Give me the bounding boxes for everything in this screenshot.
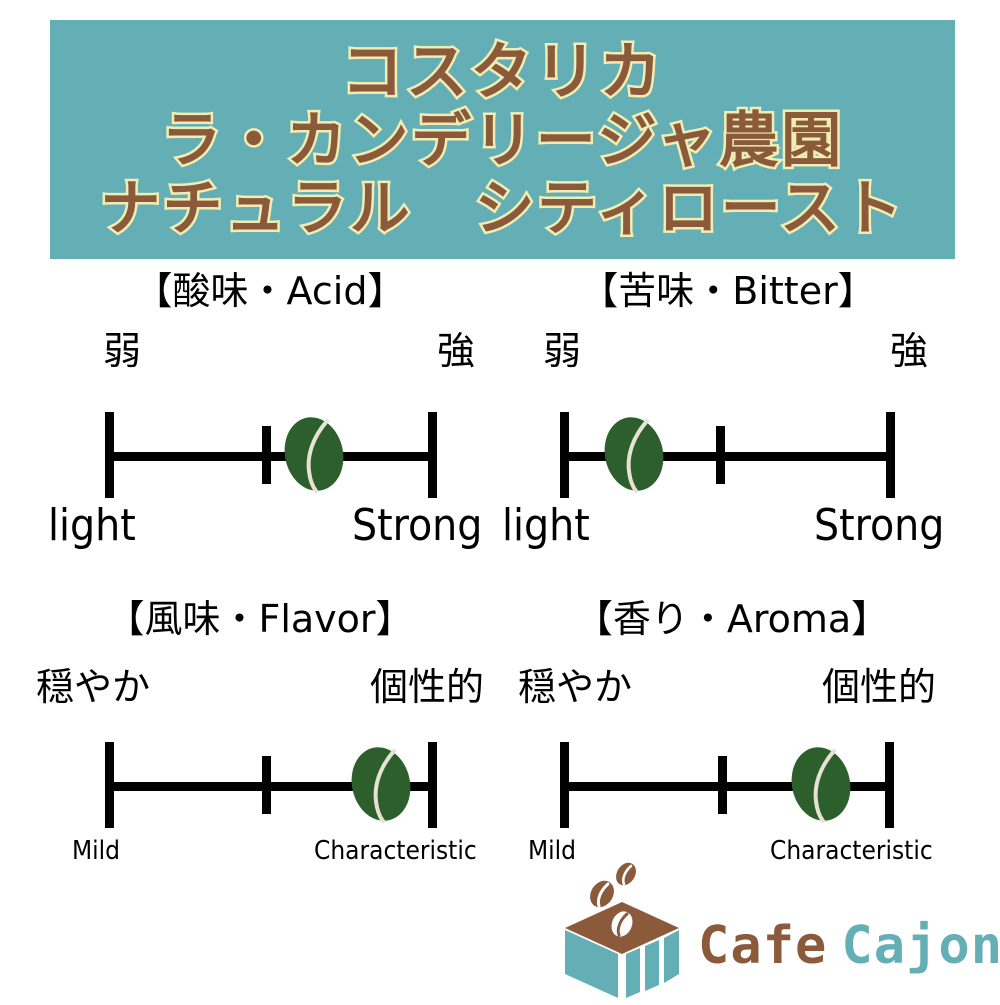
scale-tick-flavor-0	[105, 742, 114, 828]
box-right-face-3	[664, 930, 679, 983]
scale-panel-acid: 【酸味・Acid】 弱 強 light Strong	[40, 272, 500, 572]
flavor-left-label-jp: 穏やか	[36, 668, 150, 706]
product-title-line-2: ラ・カンデリージャ農園	[161, 111, 843, 171]
bitter-right-label-jp: 強	[890, 332, 928, 370]
scale-track-bitter[interactable]	[560, 412, 895, 498]
bitter-left-label-jp: 弱	[543, 332, 581, 370]
aroma-left-label-en: Mild	[528, 838, 576, 864]
scale-tick-aroma-1	[718, 756, 727, 814]
product-title-line-3: ナチュラル シティロースト	[100, 179, 905, 239]
scale-tick-bitter-1	[716, 426, 725, 484]
scale-axis-acid	[105, 452, 437, 461]
flavor-right-label-en: Characteristic	[314, 838, 477, 864]
aroma-right-label-en: Characteristic	[770, 838, 933, 864]
acid-right-label-en: Strong	[352, 504, 482, 548]
flavor-left-label-en: Mild	[72, 838, 120, 864]
scale-tick-bitter-2	[886, 412, 895, 498]
product-title-line-1: コスタリカ	[341, 41, 663, 103]
bean-marker-aroma	[790, 745, 852, 823]
brand-word-cajon: Cajon	[841, 916, 1000, 976]
aroma-left-label-jp: 穏やか	[518, 668, 632, 706]
acid-left-label-en: light	[48, 504, 136, 548]
box-right-face-2	[645, 940, 659, 991]
scale-panel-aroma: 【香り・Aroma】 穏やか 個性的 Mild Characteristic	[512, 600, 1000, 880]
coffee-box-icon	[550, 862, 695, 1000]
scale-panel-flavor: 【風味・Flavor】 穏やか 個性的 Mild Characteristic	[18, 600, 508, 880]
bean-marker-acid	[283, 415, 345, 493]
scale-tick-flavor-1	[262, 756, 271, 814]
brand-logo[interactable]: CafeCajon	[540, 862, 1000, 1000]
acid-left-label-jp: 弱	[103, 332, 141, 370]
bean-marker-bitter	[603, 415, 665, 493]
scale-panel-bitter: 【苦味・Bitter】 弱 強 light Strong	[498, 272, 958, 572]
scale-tick-acid-0	[105, 412, 114, 498]
scale-tick-aroma-2	[885, 742, 894, 828]
box-right-face-1	[626, 948, 640, 998]
panel-heading-acid: 【酸味・Acid】	[40, 272, 500, 310]
aroma-right-label-jp: 個性的	[822, 668, 936, 706]
brand-wordmark: CafeCajon	[698, 920, 1000, 972]
scale-track-aroma[interactable]	[560, 742, 894, 828]
brand-word-cafe: Cafe	[698, 916, 827, 976]
scale-tick-bitter-0	[560, 412, 569, 498]
panel-heading-flavor: 【風味・Flavor】	[40, 600, 480, 638]
product-title-banner: コスタリカ ラ・カンデリージャ農園 ナチュラル シティロースト	[50, 20, 955, 259]
scale-track-acid[interactable]	[105, 412, 437, 498]
scale-tick-acid-1	[262, 426, 271, 484]
bitter-right-label-en: Strong	[814, 504, 944, 548]
scale-tick-aroma-0	[560, 742, 569, 828]
scale-tick-acid-2	[428, 412, 437, 498]
scale-track-flavor[interactable]	[105, 742, 437, 828]
acid-right-label-jp: 強	[437, 332, 475, 370]
bean-marker-flavor	[350, 745, 412, 823]
floating-bean-small	[612, 862, 640, 889]
scale-tick-flavor-2	[428, 742, 437, 828]
flavor-right-label-jp: 個性的	[370, 668, 484, 706]
panel-heading-bitter: 【苦味・Bitter】	[498, 272, 958, 310]
bitter-left-label-en: light	[502, 504, 590, 548]
panel-heading-aroma: 【香り・Aroma】	[522, 600, 942, 638]
